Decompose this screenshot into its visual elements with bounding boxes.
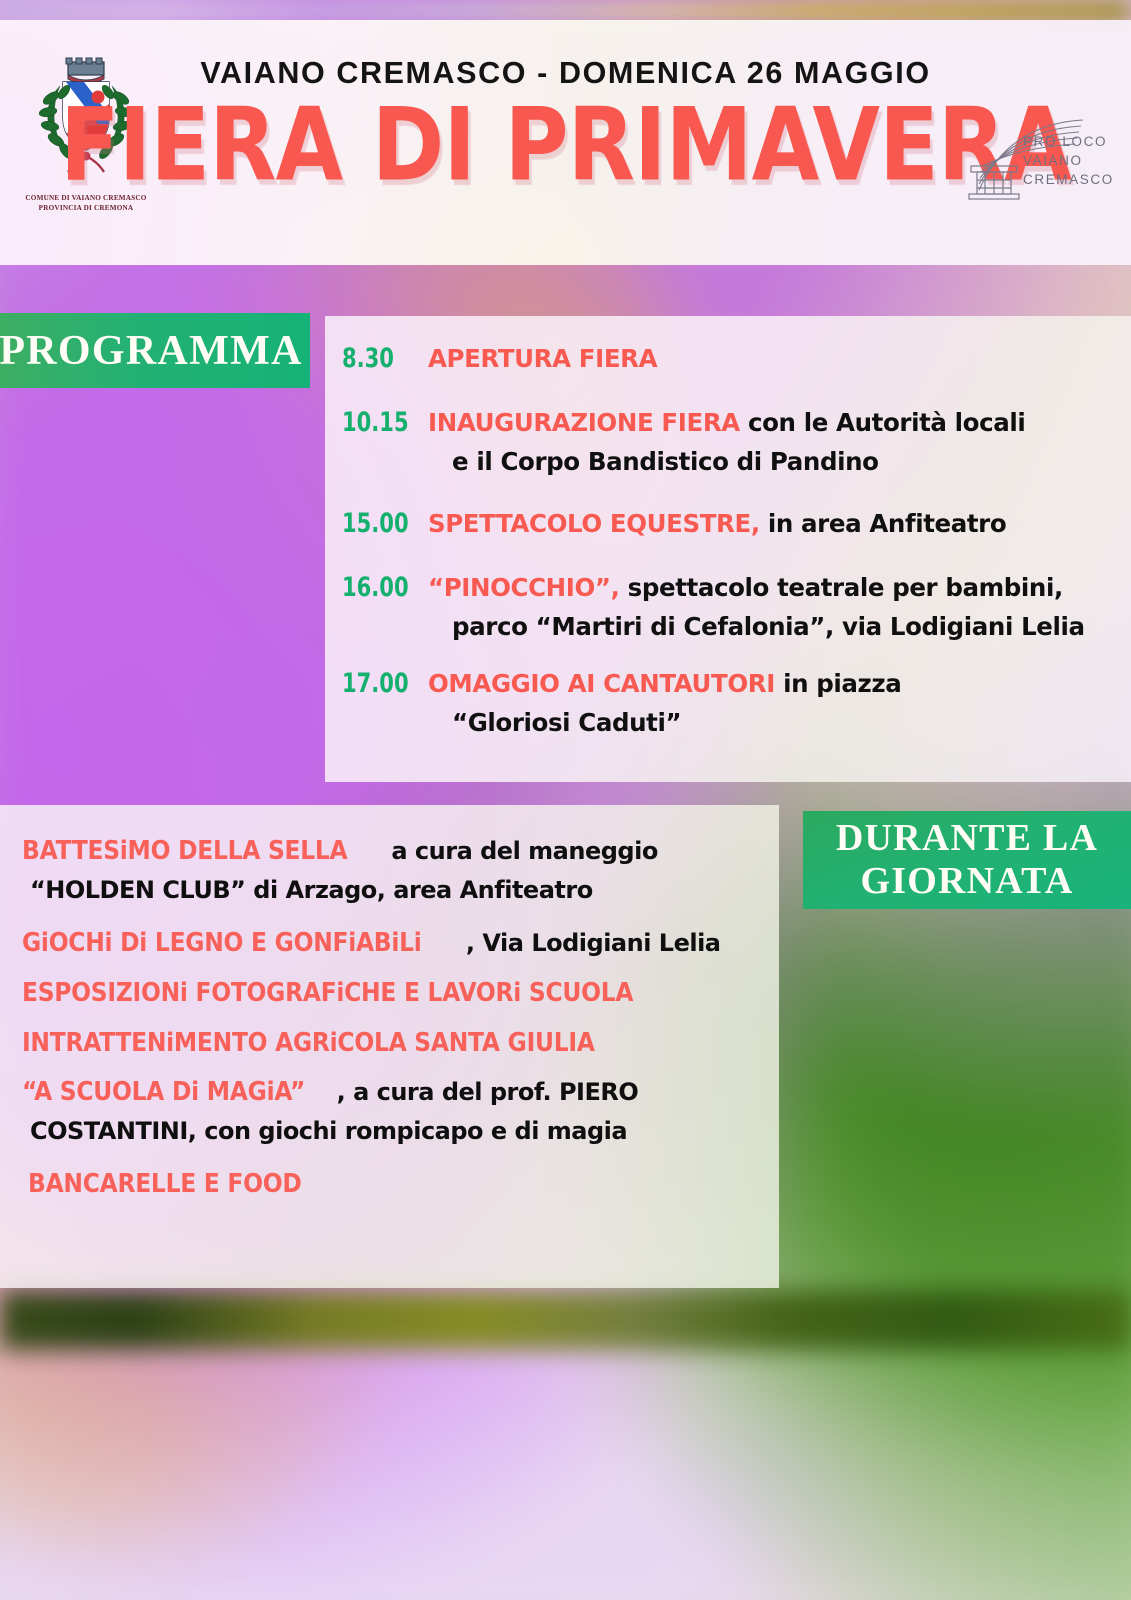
program-text: SPETTACOLO EQUESTRE, in area Anfiteatro: [428, 507, 1125, 540]
program-detail-line2: “Gloriosi Caduti”: [452, 707, 1125, 739]
durante-badge-line2: GIORNATA: [861, 860, 1074, 903]
proloco-logo: PRO LOCO VAIANO CREMASCO: [965, 118, 1117, 210]
program-text: INAUGURAZIONE FIERA con le Autorità loca…: [428, 406, 1125, 478]
program-text: APERTURA FIERA: [428, 342, 1125, 375]
program-title: SPETTACOLO EQUESTRE,: [428, 509, 760, 538]
program-time: 17.00: [342, 667, 409, 701]
activity-detail-line2: COSTANTINI, con giochi rompicapo e di ma…: [30, 1116, 769, 1147]
program-panel: 8.30 APERTURA FIERA 10.15 INAUGURAZIONE …: [325, 316, 1131, 782]
activity-row: GiOCHi Di LEGNO E GONFiABiLi, Via Lodigi…: [22, 927, 769, 961]
program-detail-line2: e il Corpo Bandistico di Pandino: [452, 446, 1125, 478]
program-detail: in piazza: [775, 669, 901, 698]
program-row: 15.00 SPETTACOLO EQUESTRE, in area Anfit…: [342, 507, 1125, 541]
proloco-line3: CREMASCO: [1023, 170, 1114, 189]
program-row: 17.00 OMAGGIO AI CANTAUTORI in piazza “G…: [342, 667, 1125, 739]
program-text: “PINOCCHIO”, spettacolo teatrale per bam…: [428, 571, 1125, 643]
activity-title: BANCARELLE E FOOD: [28, 1168, 302, 1202]
program-time: 15.00: [342, 507, 409, 541]
activity-row: BANCARELLE E FOOD: [28, 1168, 769, 1202]
proloco-line2: VAIANO: [1023, 151, 1114, 170]
program-time: 10.15: [342, 406, 409, 440]
program-title: INAUGURAZIONE FIERA: [428, 408, 740, 437]
activity-row: BATTESiMO DELLA SELLA a cura del maneggi…: [22, 835, 769, 906]
program-title: APERTURA FIERA: [428, 344, 657, 373]
page-title: FIERA DI PRIMAVERA: [34, 94, 1097, 196]
activity-title: BATTESiMO DELLA SELLA: [22, 835, 347, 869]
activities-list: BATTESiMO DELLA SELLA a cura del maneggi…: [0, 805, 779, 1202]
activity-title: ESPOSIZIONi FOTOGRAFiCHE E LAVORi SCUOLA: [22, 977, 633, 1011]
programma-badge: PROGRAMMA: [0, 313, 310, 388]
activity-title: “A SCUOLA Di MAGiA”: [22, 1076, 305, 1110]
activity-detail-line2: “HOLDEN CLUB” di Arzago, area Anfiteatro: [30, 875, 769, 906]
proloco-line1: PRO LOCO: [1023, 132, 1114, 151]
activity-detail: , Via Lodigiani Lelia: [466, 929, 721, 957]
program-detail-line2: parco “Martiri di Cefalonia”, via Lodigi…: [452, 611, 1125, 643]
activity-title: INTRATTENiMENTO AGRiCOLA SANTA GIULIA: [22, 1027, 595, 1061]
proloco-logo-text: PRO LOCO VAIANO CREMASCO: [1023, 132, 1114, 189]
activity-row: “A SCUOLA Di MAGiA”, a cura del prof. PI…: [22, 1076, 769, 1147]
poster-header: COMUNE DI VAIANO CREMASCO PROVINCIA DI C…: [0, 20, 1131, 265]
program-title: “PINOCCHIO”,: [428, 573, 620, 602]
program-detail: con le Autorità locali: [740, 408, 1025, 437]
background-top-strip: [0, 0, 1131, 22]
program-detail: in area Anfiteatro: [760, 509, 1007, 538]
activities-panel: BATTESiMO DELLA SELLA a cura del maneggi…: [0, 805, 779, 1288]
activity-detail: , a cura del prof. PIERO: [337, 1078, 639, 1106]
activity-row: ESPOSIZIONi FOTOGRAFiCHE E LAVORi SCUOLA: [22, 977, 769, 1011]
program-time: 8.30: [342, 342, 409, 376]
durante-la-giornata-badge: DURANTE LA GIORNATA: [803, 811, 1131, 909]
program-row: 16.00 “PINOCCHIO”, spettacolo teatrale p…: [342, 571, 1125, 643]
activity-title: GiOCHi Di LEGNO E GONFiABiLi: [22, 927, 422, 961]
crest-caption-line2: PROVINCIA DI CREMONA: [39, 204, 134, 212]
program-time: 16.00: [342, 571, 409, 605]
activity-detail: a cura del maneggio: [384, 837, 658, 865]
program-title: OMAGGIO AI CANTAUTORI: [428, 669, 775, 698]
program-detail: spettacolo teatrale per bambini,: [620, 573, 1063, 602]
durante-badge-line1: DURANTE LA: [836, 817, 1098, 860]
program-list: 8.30 APERTURA FIERA 10.15 INAUGURAZIONE …: [325, 316, 1131, 739]
background-dark-green-band: [0, 1290, 1131, 1350]
program-row: 10.15 INAUGURAZIONE FIERA con le Autorit…: [342, 406, 1125, 478]
program-text: OMAGGIO AI CANTAUTORI in piazza “Glorios…: [428, 667, 1125, 739]
activity-row: INTRATTENiMENTO AGRiCOLA SANTA GIULIA: [22, 1027, 769, 1061]
program-row: 8.30 APERTURA FIERA: [342, 342, 1125, 376]
